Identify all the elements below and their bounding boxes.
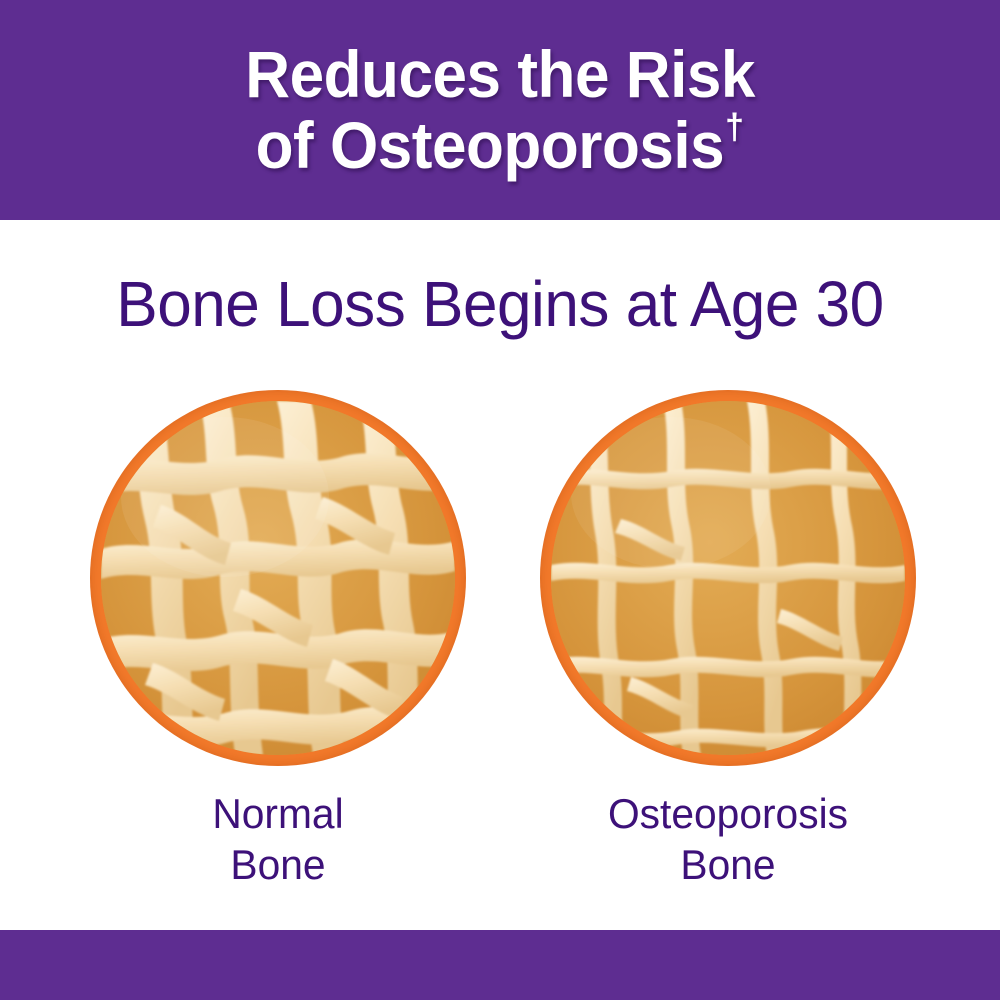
subheading: Bone Loss Begins at Age 30 bbox=[15, 272, 985, 336]
caption-normal-bone-line-2: Bone bbox=[55, 839, 501, 890]
normal-bone-circle bbox=[90, 390, 466, 766]
normal-bone-tissue bbox=[101, 401, 455, 755]
figure-normal-bone: Normal Bone bbox=[48, 390, 508, 890]
caption-osteoporosis-bone: Osteoporosis Bone bbox=[505, 788, 951, 890]
bone-comparison: Normal Bone bbox=[0, 390, 1000, 890]
headline-line-2-text: of Osteoporosis bbox=[256, 108, 725, 182]
osteoporosis-infographic: Reduces the Risk of Osteoporosis† Bone L… bbox=[0, 0, 1000, 1000]
osteoporosis-bone-circle bbox=[540, 390, 916, 766]
headline-line-1: Reduces the Risk bbox=[245, 39, 755, 110]
caption-osteoporosis-bone-line-1: Osteoporosis bbox=[505, 788, 951, 839]
top-purple-banner: Reduces the Risk of Osteoporosis† bbox=[0, 0, 1000, 220]
content-panel: Bone Loss Begins at Age 30 bbox=[0, 220, 1000, 930]
headline-block: Reduces the Risk of Osteoporosis† bbox=[0, 0, 1000, 220]
headline-line-2: of Osteoporosis† bbox=[256, 110, 744, 181]
osteoporosis-bone-tissue bbox=[551, 401, 905, 755]
caption-osteoporosis-bone-line-2: Bone bbox=[505, 839, 951, 890]
footnote-dagger-icon: † bbox=[726, 106, 744, 147]
figure-osteoporosis-bone: Osteoporosis Bone bbox=[498, 390, 958, 890]
caption-normal-bone-line-1: Normal bbox=[55, 788, 501, 839]
bottom-purple-banner bbox=[0, 930, 1000, 1000]
caption-normal-bone: Normal Bone bbox=[55, 788, 501, 890]
